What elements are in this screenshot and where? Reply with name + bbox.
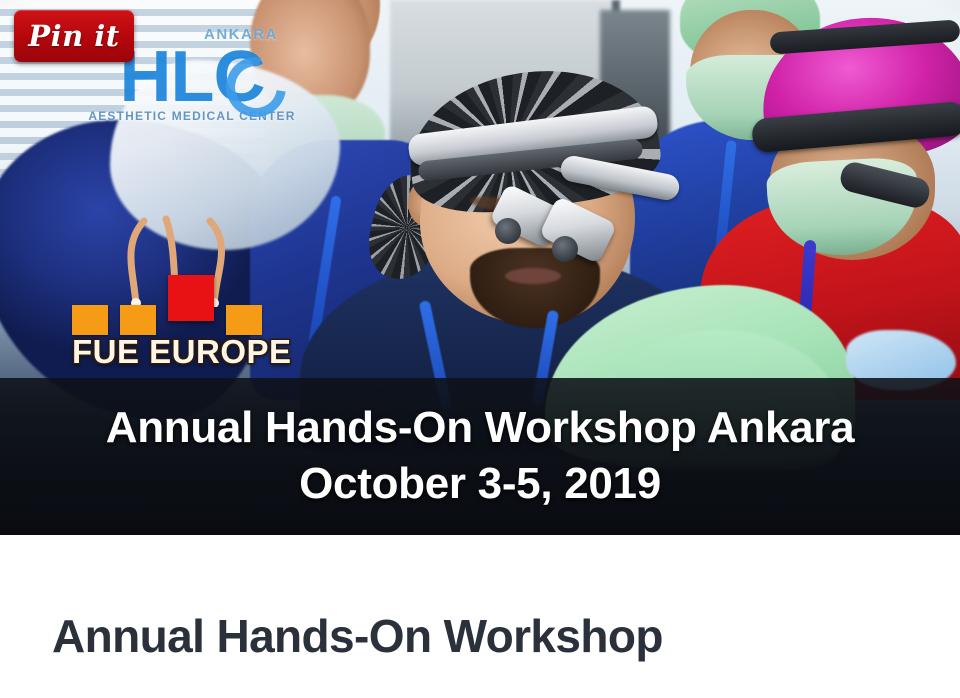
caption-section: Annual Hands-On Workshop (0, 535, 960, 698)
fue-square-row (72, 295, 312, 335)
event-title-line1: Annual Hands-On Workshop Ankara (106, 404, 855, 452)
page-root: ANKARA HLC AESTHETIC MEDICAL CENTER (0, 0, 960, 698)
hero-image: ANKARA HLC AESTHETIC MEDICAL CENTER (0, 0, 960, 535)
event-date-line: October 3-5, 2019 (299, 460, 661, 508)
fue-europe-logo: FUE EUROPE (72, 215, 312, 365)
pin-it-button[interactable]: Pin it (14, 10, 134, 62)
fue-square-2 (120, 305, 156, 335)
page-title: Annual Hands-On Workshop (52, 609, 663, 663)
fue-europe-wordmark: FUE EUROPE (72, 333, 312, 371)
event-title-overlay: Annual Hands-On Workshop Ankara October … (0, 378, 960, 535)
fue-square-4 (226, 305, 262, 335)
fue-square-3-accent (168, 275, 214, 321)
pin-it-label: Pin it (28, 22, 119, 51)
fue-square-1 (72, 305, 108, 335)
